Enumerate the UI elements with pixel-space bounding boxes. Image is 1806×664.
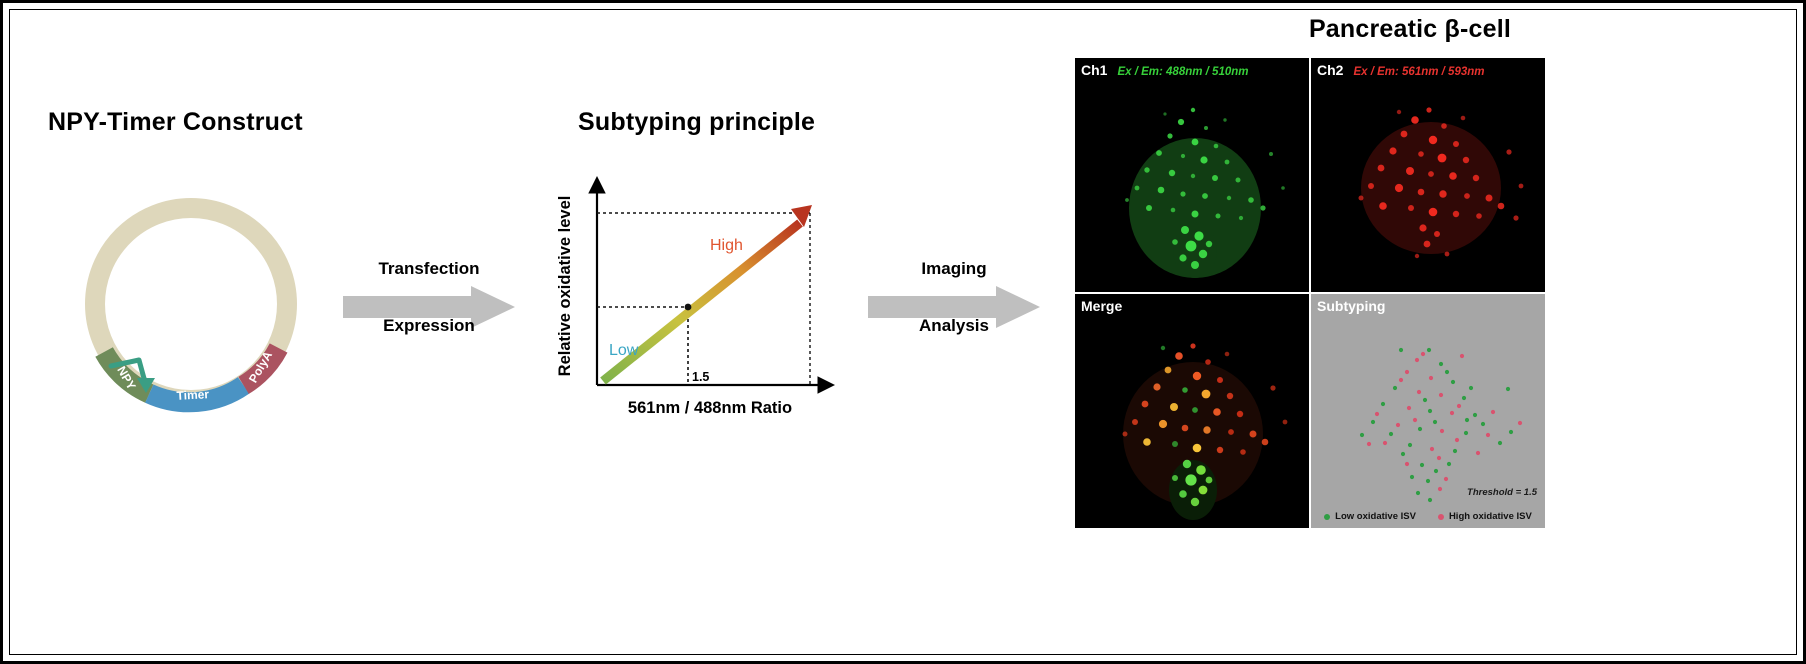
ch1-image — [1075, 58, 1309, 292]
legend-dot-low-icon — [1324, 514, 1330, 520]
micrograph-panel-ch1[interactable]: Ch1 Ex / Em: 488nm / 510nm — [1075, 58, 1309, 292]
chart-y-axis-title: Relative oxidative level — [556, 196, 574, 377]
micrograph-grid: Ch1 Ex / Em: 488nm / 510nm — [1075, 58, 1545, 528]
subtyping-label: Subtyping — [1317, 298, 1385, 314]
chart-threshold-tick-label: 1.5 — [692, 370, 709, 384]
chart-zone-label-low: Low — [609, 342, 639, 359]
legend-item-high: High oxidative ISV — [1438, 511, 1532, 522]
legend-label-low: Low oxidative ISV — [1335, 511, 1416, 522]
legend-item-low: Low oxidative ISV — [1324, 511, 1416, 522]
micrograph-panel-merge[interactable]: Merge — [1075, 294, 1309, 528]
micrograph-panel-subtyping[interactable]: Subtyping Threshold = 1.5 Low oxidative … — [1311, 294, 1545, 528]
merge-image — [1075, 294, 1309, 528]
transfection-caption-line2: Expression — [343, 316, 515, 336]
transfection-caption-line1: Transfection — [343, 259, 515, 279]
chart-threshold-marker — [685, 304, 692, 311]
legend-dot-high-icon — [1438, 514, 1444, 520]
imaging-caption-line1: Imaging — [868, 259, 1040, 279]
subtyping-panel-title: Subtyping principle — [578, 108, 815, 137]
chart-zone-label-high: High — [710, 237, 743, 254]
subtyping-chart: Low High 1.5 Relative oxidative level 56… — [548, 173, 858, 418]
subtyping-legend: Low oxidative ISV High oxidative ISV — [1311, 511, 1545, 522]
micrograph-panel-ch2[interactable]: Ch2 Ex / Em: 561nm / 593nm — [1311, 58, 1545, 292]
imaging-caption-line2: Analysis — [868, 316, 1040, 336]
figure-root: NPY-Timer Construct Subtyping principle … — [0, 0, 1806, 664]
plasmid-label-timer: Timer — [176, 387, 209, 403]
construct-panel-title: NPY-Timer Construct — [48, 108, 303, 137]
plasmid-diagram: NPY Timer PolyA — [75, 188, 307, 420]
chart-x-axis-title: 561nm / 488nm Ratio — [628, 399, 792, 417]
subtyping-threshold-note: Threshold = 1.5 — [1467, 487, 1537, 498]
merge-label: Merge — [1081, 298, 1122, 314]
legend-label-high: High oxidative ISV — [1449, 511, 1532, 522]
cell-panel-title: Pancreatic β-cell — [1175, 15, 1645, 44]
ch2-image — [1311, 58, 1545, 292]
